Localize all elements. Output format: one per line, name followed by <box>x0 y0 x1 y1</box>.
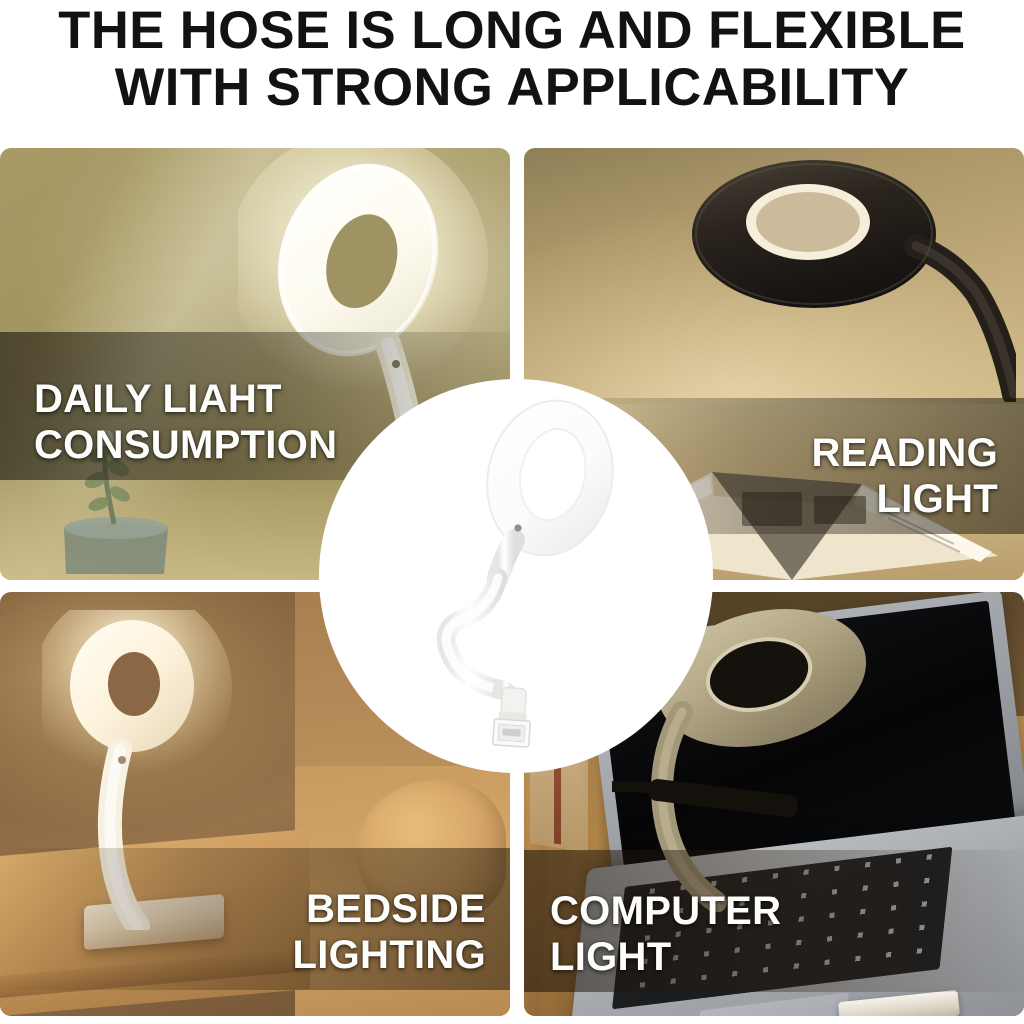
ring-lamp-black <box>666 148 1016 407</box>
usb-gooseneck-lamp <box>322 382 710 770</box>
caption-bedside-lighting: BEDSIDE LIGHTING <box>293 886 487 978</box>
product-circle-inset <box>322 382 710 770</box>
product-infographic: THE HOSE IS LONG AND FLEXIBLE WITH STRON… <box>0 0 1024 1024</box>
headline-line-2: WITH STRONG APPLICABILITY <box>5 59 1019 116</box>
headline-line-1: THE HOSE IS LONG AND FLEXIBLE <box>5 2 1019 59</box>
caption-daily-light: DAILY LIAHT CONSUMPTION <box>34 376 337 468</box>
caption-reading-light: READING LIGHT <box>811 430 998 522</box>
caption-computer-light: COMPUTER LIGHT <box>550 888 781 980</box>
headline: THE HOSE IS LONG AND FLEXIBLE WITH STRON… <box>0 0 1024 135</box>
